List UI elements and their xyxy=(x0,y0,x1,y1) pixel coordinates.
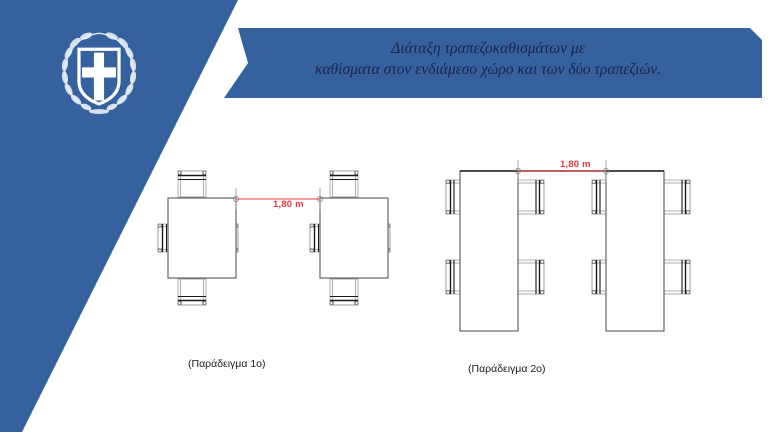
diagram-example-2 xyxy=(440,140,740,355)
chair-right-lower xyxy=(518,260,544,294)
table-top xyxy=(168,198,236,278)
chair-right-lower xyxy=(664,260,690,294)
dimension-label-example-1: 1,80 m xyxy=(273,199,304,210)
caption-example-1: (Παράδειγμα 1ο) xyxy=(188,358,266,370)
chair-top xyxy=(178,171,206,197)
table-top xyxy=(606,171,664,331)
table-group-left xyxy=(446,171,544,331)
chair-right-upper xyxy=(518,180,544,214)
table-group-right xyxy=(310,171,390,305)
slide-canvas: Διάταξη τραπεζοκαθισμάτων με καθίσματα σ… xyxy=(0,0,768,432)
table-group-left xyxy=(158,171,238,305)
chair-bottom xyxy=(330,279,358,305)
dimension-label-example-2: 1,80 m xyxy=(560,159,591,170)
chair-right-upper xyxy=(664,180,690,214)
greek-coat-of-arms-emblem xyxy=(52,26,146,118)
header-banner xyxy=(224,28,762,98)
chair-bottom xyxy=(178,279,206,305)
table-top xyxy=(320,198,388,278)
caption-example-2: (Παράδειγμα 2ο) xyxy=(468,363,546,375)
table-group-right xyxy=(592,171,690,331)
chair-top xyxy=(330,171,358,197)
table-top xyxy=(460,171,518,331)
diagram-example-1 xyxy=(150,150,450,350)
